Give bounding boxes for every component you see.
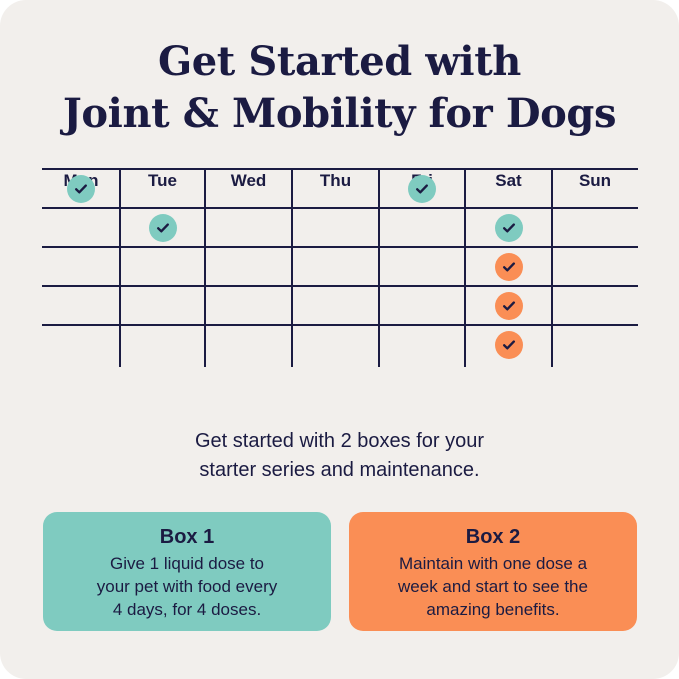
box-2-body-line-3: amazing benefits. [365, 598, 621, 621]
box-2-body-line-1: Maintain with one dose a [365, 552, 621, 575]
box-1-body-line-3: 4 days, for 4 doses. [59, 598, 315, 621]
calendar-day-header-sat: Sat [465, 168, 552, 194]
title-line-2: Joint & Mobility for Dogs [0, 88, 679, 140]
caption-line-2: starter series and maintenance. [0, 456, 679, 485]
calendar-day-header-tue: Tue [120, 168, 205, 194]
infographic-panel: Get Started with Joint & Mobility for Do… [0, 0, 679, 679]
calendar-column-divider [551, 168, 553, 367]
box-1-body: Give 1 liquid dose to your pet with food… [59, 552, 315, 621]
calendar-row-divider [42, 207, 638, 209]
box-1-card: Box 1 Give 1 liquid dose to your pet wit… [43, 512, 331, 631]
calendar-row-divider [42, 324, 638, 326]
calendar-header-row: MonTueWedThuFriSatSun [42, 168, 638, 203]
calendar-day-header-sun: Sun [552, 168, 638, 194]
calendar-column-divider [378, 168, 380, 367]
check-icon [495, 214, 523, 242]
calendar-row-divider [42, 246, 638, 248]
check-icon [495, 331, 523, 359]
calendar-column-divider [204, 168, 206, 367]
box-1-title: Box 1 [59, 525, 315, 550]
dosing-calendar: MonTueWedThuFriSatSun [42, 168, 638, 398]
box-2-card: Box 2 Maintain with one dose a week and … [349, 512, 637, 631]
box-2-body: Maintain with one dose a week and start … [365, 552, 621, 621]
box-1-body-line-1: Give 1 liquid dose to [59, 552, 315, 575]
box-2-title: Box 2 [365, 525, 621, 550]
check-icon [149, 214, 177, 242]
check-icon [67, 175, 95, 203]
calendar-column-divider [464, 168, 466, 367]
caption-line-1: Get started with 2 boxes for your [0, 427, 679, 456]
title-line-1: Get Started with [0, 36, 679, 88]
check-icon [495, 253, 523, 281]
check-icon [495, 292, 523, 320]
box-1-body-line-2: your pet with food every [59, 575, 315, 598]
calendar-caption: Get started with 2 boxes for your starte… [0, 427, 679, 485]
check-icon [408, 175, 436, 203]
page-title: Get Started with Joint & Mobility for Do… [0, 36, 679, 140]
calendar-day-header-wed: Wed [205, 168, 292, 194]
calendar-row-divider [42, 285, 638, 287]
box-2-body-line-2: week and start to see the [365, 575, 621, 598]
calendar-day-header-thu: Thu [292, 168, 379, 194]
calendar-column-divider [119, 168, 121, 367]
calendar-column-divider [291, 168, 293, 367]
calendar-row-divider [42, 168, 638, 170]
